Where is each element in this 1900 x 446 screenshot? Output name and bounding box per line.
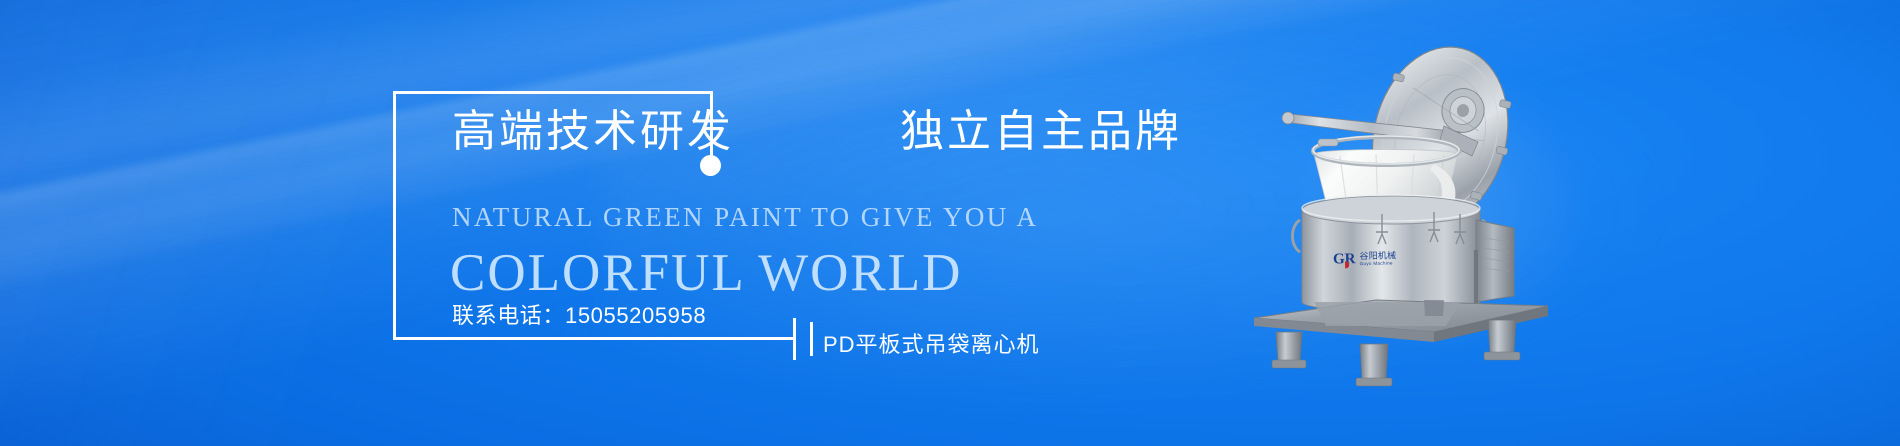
caption-connector-tick (793, 318, 796, 360)
product-photo-centrifuge (1248, 14, 1618, 434)
contact-phone: 联系电话：15055205958 (452, 298, 706, 330)
product-caption: PD平板式吊袋离心机 (823, 327, 1040, 359)
decorative-bullet-dot (700, 155, 721, 176)
caption-connector-line (713, 337, 795, 340)
logo-english-name: Guyu Machine (1360, 261, 1397, 266)
promo-banner: 高端技术研发 独立自主品牌 NATURAL GREEN PAINT TO GIV… (0, 0, 1900, 446)
headline-english-large: COLORFUL WORLD (450, 243, 962, 303)
headline-right-text: 独立自主品牌 (900, 110, 1182, 154)
drum-brand-logo: GR 谷阳机械 Guyu Machine (1333, 251, 1397, 267)
headline: 高端技术研发 独立自主品牌 (452, 110, 1182, 154)
headline-left-text: 高端技术研发 (452, 110, 734, 154)
caption-accent-bar (810, 322, 813, 356)
subheadline-english: NATURAL GREEN PAINT TO GIVE YOU A (452, 202, 1038, 233)
control-box (1474, 220, 1514, 304)
